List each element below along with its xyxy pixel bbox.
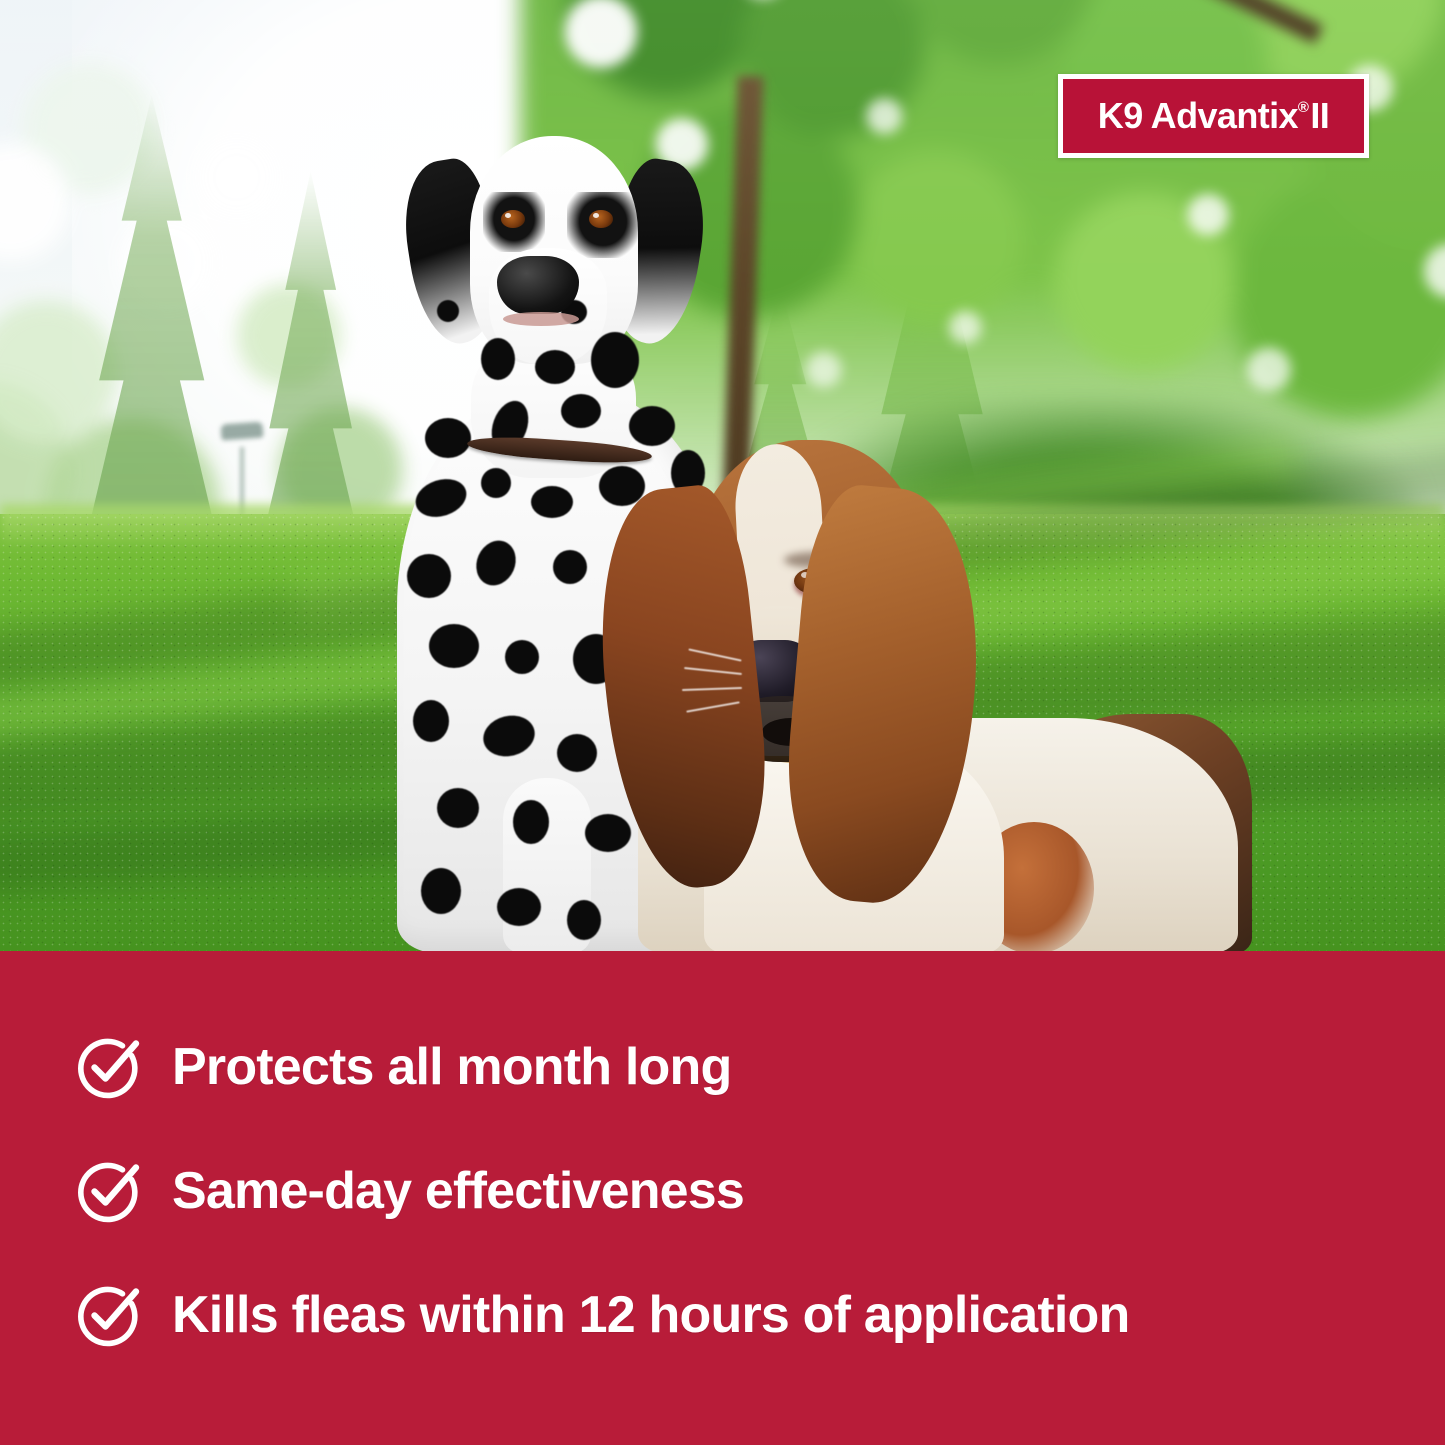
check-circle-icon bbox=[76, 1282, 142, 1348]
dalmatian-lip bbox=[503, 312, 579, 326]
claim-label: Kills fleas within 12 hours of applicati… bbox=[172, 1288, 1129, 1343]
brand-logo-suffix: II bbox=[1310, 98, 1329, 134]
dalmatian-spot bbox=[513, 800, 549, 844]
brand-logo-inner: K9 Advantix®II bbox=[1063, 79, 1364, 153]
registered-trademark-icon: ® bbox=[1298, 100, 1308, 115]
dalmatian-spot bbox=[437, 788, 479, 828]
dalmatian-spot bbox=[553, 550, 587, 584]
dalmatian-spot bbox=[557, 734, 597, 772]
dalmatian-spot bbox=[407, 554, 451, 598]
dalmatian-spot bbox=[591, 332, 639, 388]
brand-logo-text: K9 Advantix®II bbox=[1098, 98, 1329, 134]
claim-item: Protects all month long bbox=[76, 1005, 1385, 1129]
product-ad-image: K9 Advantix®II Protects all month long S… bbox=[0, 0, 1445, 1445]
dalmatian-right-eye bbox=[589, 210, 613, 228]
check-circle-icon bbox=[76, 1034, 142, 1100]
dalmatian-spot bbox=[437, 300, 459, 322]
brand-logo-badge: K9 Advantix®II bbox=[1058, 74, 1369, 158]
dalmatian-spot bbox=[481, 338, 515, 380]
dalmatian-spot bbox=[531, 486, 573, 518]
check-circle-icon bbox=[76, 1158, 142, 1224]
dalmatian-spot bbox=[497, 888, 541, 926]
claim-item: Same-day effectiveness bbox=[76, 1129, 1385, 1253]
dalmatian-spot bbox=[425, 418, 471, 458]
claim-label: Same-day effectiveness bbox=[172, 1164, 744, 1219]
dalmatian-spot bbox=[535, 350, 575, 384]
dalmatian-left-eye bbox=[501, 210, 525, 228]
brand-logo-prefix: K9 Advantix bbox=[1098, 98, 1298, 134]
dalmatian-spot bbox=[505, 640, 539, 674]
basset-hound-dog bbox=[612, 418, 1252, 951]
dalmatian-spot bbox=[421, 868, 461, 914]
claim-item: Kills fleas within 12 hours of applicati… bbox=[76, 1253, 1385, 1377]
dalmatian-spot bbox=[413, 700, 449, 742]
dalmatian-spot bbox=[481, 468, 511, 498]
dalmatian-spot bbox=[561, 394, 601, 428]
claim-label: Protects all month long bbox=[172, 1040, 731, 1095]
dalmatian-spot bbox=[429, 624, 479, 668]
dalmatian-spot bbox=[567, 900, 601, 940]
lamp-post-head bbox=[221, 422, 264, 441]
claims-panel: Protects all month long Same-day effecti… bbox=[0, 951, 1445, 1445]
dalmatian-nose bbox=[497, 256, 579, 314]
